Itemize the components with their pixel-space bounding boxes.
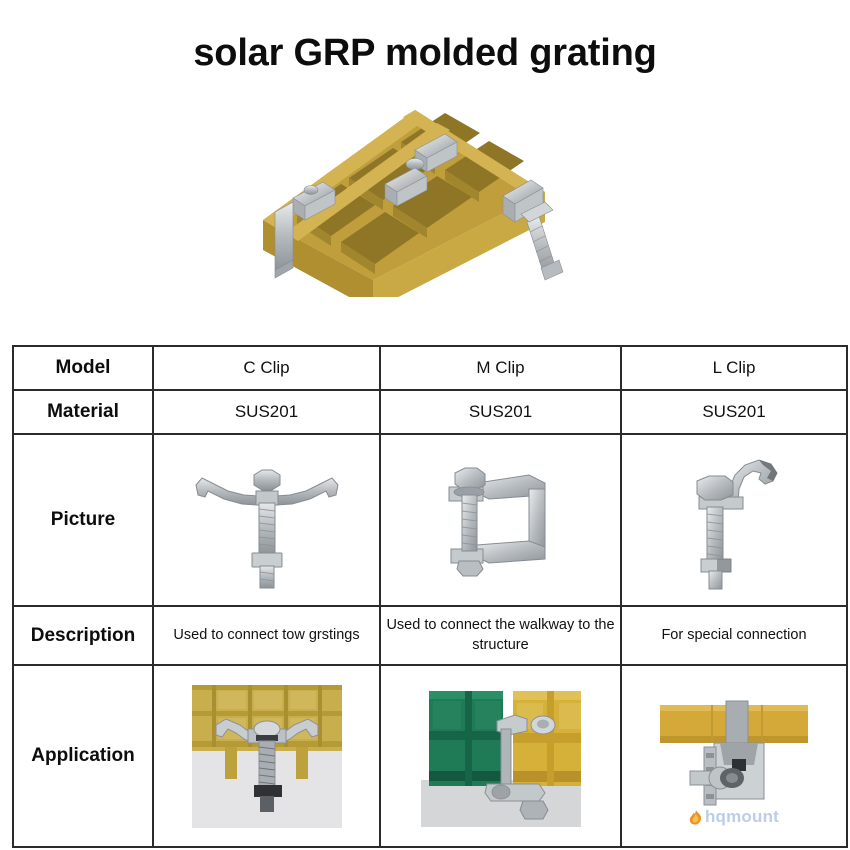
spec-table: Model C Clip M Clip L Clip Material SUS2… (12, 345, 848, 848)
picture-m-clip (380, 434, 621, 606)
green-grating (429, 691, 503, 786)
table-row-material: Material SUS201 SUS201 SUS201 (13, 390, 847, 434)
picture-l-clip (621, 434, 847, 606)
description-m-value: Used to connect the walkway to the struc… (380, 606, 621, 665)
description-l-value: For special connection (621, 606, 847, 665)
yellow-grating (513, 691, 581, 786)
hero-image (0, 72, 850, 297)
l-clip-drawing (649, 445, 819, 595)
c-clip-drawing (172, 445, 362, 595)
application-l-clip: hqmount (621, 665, 847, 847)
m-application-svg (421, 685, 581, 827)
table-row-description: Description Used to connect tow grstings… (13, 606, 847, 665)
row-label-application: Application (13, 665, 153, 847)
application-m-clip (380, 665, 621, 847)
c-application-photo (192, 685, 342, 828)
model-m-value: M Clip (380, 346, 621, 390)
grating-svg (245, 72, 575, 297)
l-application-photo: hqmount (650, 681, 818, 831)
table-row-application: Application (13, 665, 847, 847)
row-label-picture: Picture (13, 434, 153, 606)
m-application-photo (421, 685, 581, 827)
table-row-model: Model C Clip M Clip L Clip (13, 346, 847, 390)
c-application-svg (192, 685, 342, 828)
material-m-value: SUS201 (380, 390, 621, 434)
picture-c-clip (153, 434, 380, 606)
row-label-material: Material (13, 390, 153, 434)
page-title: solar GRP molded grating (0, 0, 850, 72)
l-application-svg (650, 681, 818, 831)
model-l-value: L Clip (621, 346, 847, 390)
application-c-clip (153, 665, 380, 847)
row-label-description: Description (13, 606, 153, 665)
grating-illustration (245, 72, 575, 297)
table-row-picture: Picture (13, 434, 847, 606)
material-c-value: SUS201 (153, 390, 380, 434)
material-l-value: SUS201 (621, 390, 847, 434)
row-label-model: Model (13, 346, 153, 390)
m-clip-drawing (411, 445, 591, 595)
description-c-value: Used to connect tow grstings (153, 606, 380, 665)
model-c-value: C Clip (153, 346, 380, 390)
